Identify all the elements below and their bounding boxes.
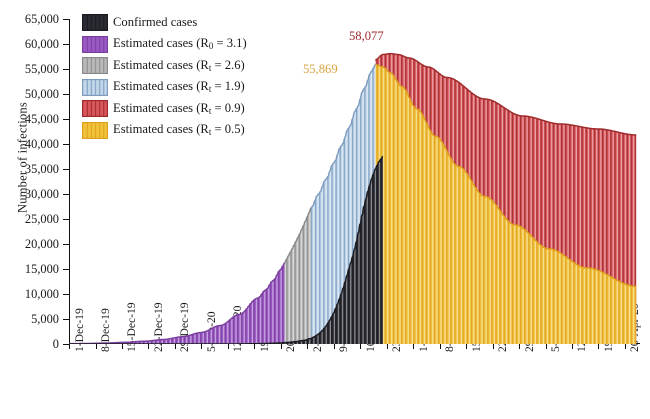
legend-rt-05[interactable]: Estimated cases (Rt = 0.5): [82, 120, 332, 142]
legend-rt-26[interactable]: Estimated cases (Rt = 2.6): [82, 55, 332, 77]
legend-r0-31[interactable]: Estimated cases (R0 = 3.1): [82, 34, 332, 56]
legend-confirmed[interactable]: Confirmed cases: [82, 12, 332, 34]
x-tick: [201, 344, 202, 349]
x-tick: [148, 344, 149, 349]
legend-swatch-icon: [82, 100, 108, 117]
y-tick-label: 65,000: [25, 13, 59, 25]
x-tick: [625, 344, 626, 349]
x-tick: [122, 344, 123, 349]
x-tick: [96, 344, 97, 349]
x-tick: [493, 344, 494, 349]
x-tick: [466, 344, 467, 349]
x-tick: [440, 344, 441, 349]
y-tick-label: 15,000: [25, 263, 59, 275]
x-tick: [572, 344, 573, 349]
y-tick-label: 30,000: [25, 188, 59, 200]
x-tick: [334, 344, 335, 349]
x-tick: [546, 344, 547, 349]
annotation-peak-rt-05: 55,869: [303, 63, 338, 76]
epidemic-curve-figure: Number of infections 05,00010,00015,0002…: [0, 0, 650, 419]
x-tick: [413, 344, 414, 349]
y-tick-label: 10,000: [25, 288, 59, 300]
legend-swatch-icon: [82, 122, 108, 139]
series-estimated_rt_26: [285, 208, 311, 344]
y-tick-label: 5,000: [31, 313, 59, 325]
annotation-peak-rt-09: 58,077: [349, 30, 384, 43]
y-tick-label: 0: [53, 338, 59, 350]
x-tick: [519, 344, 520, 349]
chart-legend: Confirmed casesEstimated cases (R0 = 3.1…: [82, 12, 332, 141]
y-tick-label: 25,000: [25, 213, 59, 225]
legend-label: Estimated cases (R0 = 3.1): [113, 37, 247, 51]
x-tick: [228, 344, 229, 349]
y-tick-label: 40,000: [25, 138, 59, 150]
legend-label: Estimated cases (Rt = 2.6): [113, 59, 245, 73]
legend-swatch-icon: [82, 36, 108, 53]
x-tick: [387, 344, 388, 349]
y-tick-label: 60,000: [25, 38, 59, 50]
x-tick: [69, 344, 70, 349]
y-tick-label: 35,000: [25, 163, 59, 175]
x-tick: [598, 344, 599, 349]
x-tick: [307, 344, 308, 349]
legend-label: Estimated cases (Rt = 0.5): [113, 123, 245, 137]
legend-swatch-icon: [82, 14, 108, 31]
legend-label: Estimated cases (Rt = 1.9): [113, 80, 245, 94]
series-estimated_r0_31: [69, 263, 285, 344]
x-tick: [175, 344, 176, 349]
legend-swatch-icon: [82, 57, 108, 74]
legend-swatch-icon: [82, 79, 108, 96]
x-tick: [360, 344, 361, 349]
x-tick: [254, 344, 255, 349]
legend-rt-09[interactable]: Estimated cases (Rt = 0.9): [82, 98, 332, 120]
legend-label: Estimated cases (Rt = 0.9): [113, 102, 245, 116]
legend-rt-19[interactable]: Estimated cases (Rt = 1.9): [82, 77, 332, 99]
x-tick: [281, 344, 282, 349]
y-tick-label: 55,000: [25, 63, 59, 75]
y-tick-label: 20,000: [25, 238, 59, 250]
legend-label: Confirmed cases: [113, 16, 197, 29]
y-tick-label: 45,000: [25, 113, 59, 125]
y-tick-label: 50,000: [25, 88, 59, 100]
